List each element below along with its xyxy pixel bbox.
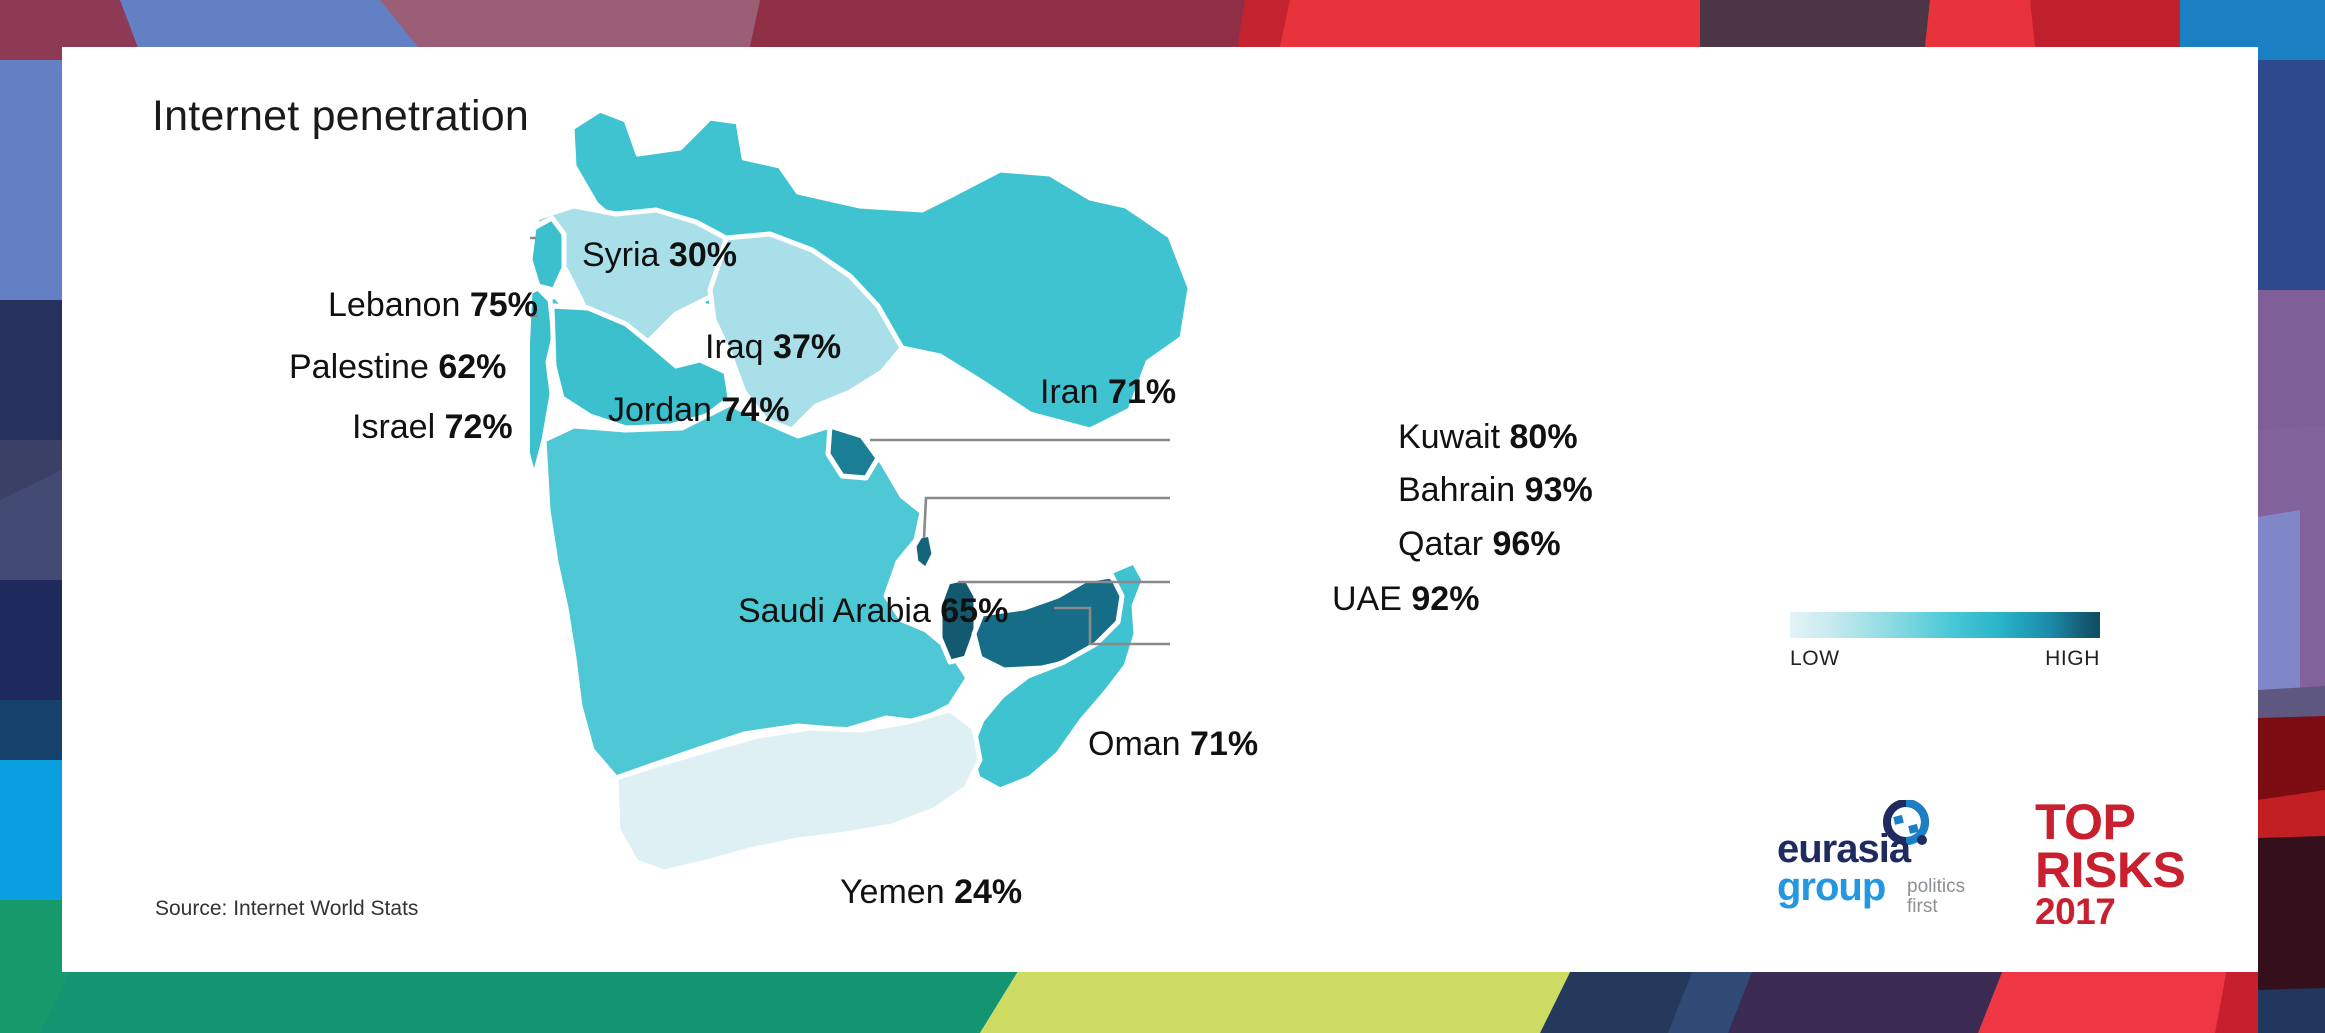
map-label-israel: Israel 72% (352, 410, 513, 444)
map-label-iraq: Iraq 37% (705, 330, 841, 364)
page-title: Internet penetration (152, 92, 529, 141)
legend-low-label: LOW (1790, 647, 1840, 671)
map-label-iran: Iran 71% (1040, 375, 1176, 409)
map-label-yemen: Yemen 24% (840, 875, 1022, 909)
map-label-oman: Oman 71% (1088, 727, 1258, 761)
eurasia-group-logo: eurasia group politics first (1775, 800, 1990, 920)
color-scale-legend: LOW HIGH (1790, 612, 2100, 671)
map-label-saudi-arabia: Saudi Arabia 65% (738, 594, 1008, 628)
map-label-kuwait: Kuwait 80% (1398, 420, 1578, 454)
infographic-root: Internet penetration (0, 0, 2325, 1033)
region-bahrain (914, 534, 934, 570)
region-kuwait (828, 426, 878, 478)
legend-high-label: HIGH (2045, 647, 2100, 671)
top-risks-year: 2017 (2035, 894, 2185, 930)
tagline-politics: politics (1907, 876, 1965, 897)
map-label-qatar: Qatar 96% (1398, 527, 1561, 561)
group-wordmark: group (1777, 865, 1885, 909)
map-label-palestine: Palestine 62% (289, 350, 506, 384)
top-risks-logo: TOP RISKS 2017 (2035, 798, 2185, 930)
top-risks-line-risks: RISKS (2035, 846, 2185, 894)
tagline-first: first (1907, 896, 1938, 917)
map-label-syria: Syria 30% (582, 238, 737, 272)
region-lebanon (530, 218, 564, 290)
source-note: Source: Internet World Stats (155, 897, 418, 921)
map-label-uae: UAE 92% (1332, 582, 1479, 616)
choropleth-map (530, 110, 1350, 920)
top-risks-line-top: TOP (2035, 798, 2185, 846)
map-label-bahrain: Bahrain 93% (1398, 473, 1593, 507)
legend-gradient-bar (1790, 612, 2100, 638)
map-label-jordan: Jordan 74% (608, 393, 789, 427)
map-label-lebanon: Lebanon 75% (328, 288, 538, 322)
